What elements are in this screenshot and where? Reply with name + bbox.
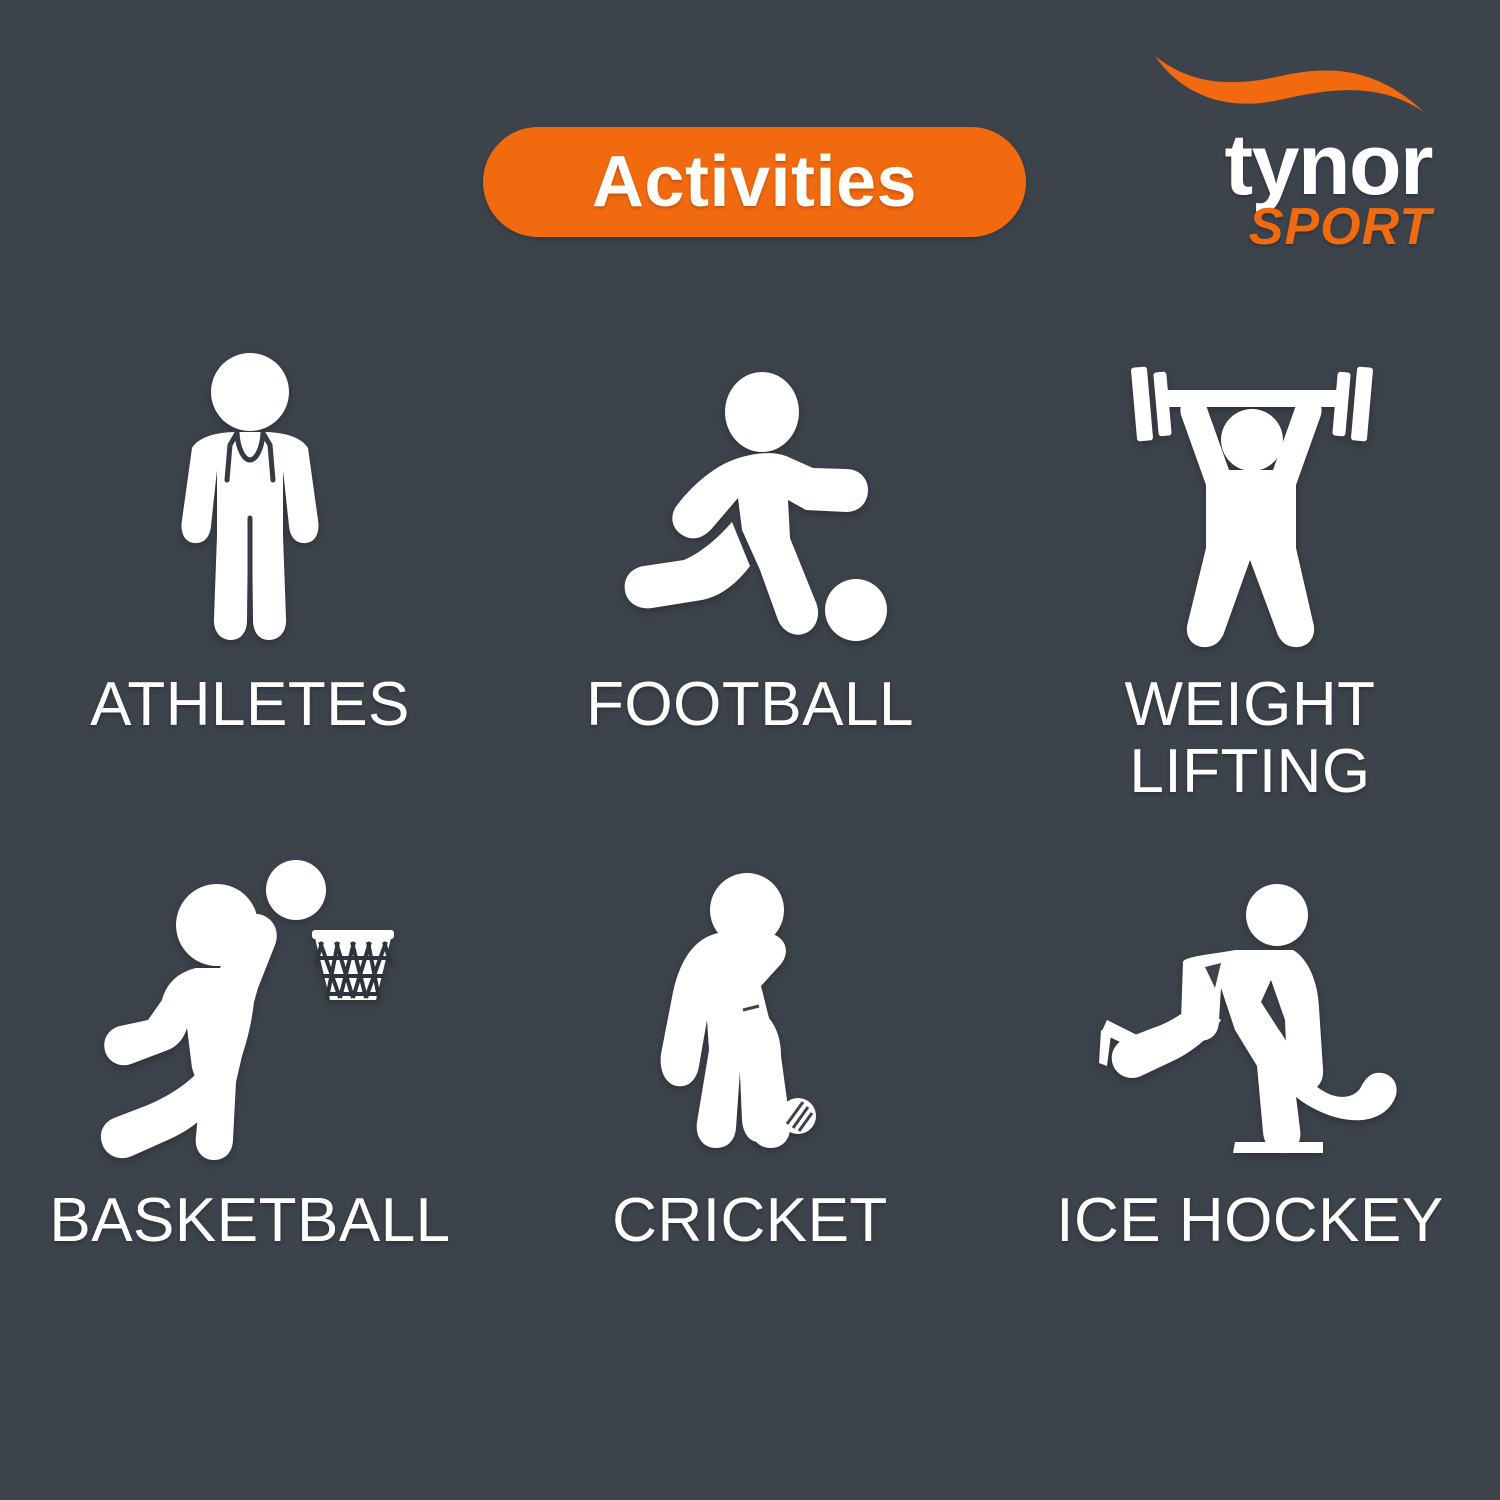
activity-item-basketball: BASKETBALL xyxy=(0,860,500,1390)
activity-item-athletes: ATHLETES xyxy=(0,330,500,860)
activities-badge: Activities xyxy=(483,127,1026,237)
activity-label-football: FOOTBALL xyxy=(586,672,914,739)
activity-item-cricket: CRICKET xyxy=(500,860,1000,1390)
poster-header: Activities tynor SPORT xyxy=(0,0,1500,300)
logo-wordmark: tynor xyxy=(1132,126,1432,205)
activity-item-icehockey: ICE HOCKEY xyxy=(1000,860,1500,1390)
icehockey-icon xyxy=(1085,860,1415,1160)
activity-label-athletes: ATHLETES xyxy=(90,672,410,739)
basketball-icon xyxy=(100,860,400,1160)
activity-item-football: FOOTBALL xyxy=(500,330,1000,860)
weightlifting-icon xyxy=(1110,330,1390,650)
football-icon xyxy=(610,330,890,650)
tynor-sport-logo: tynor SPORT xyxy=(1132,52,1432,252)
activity-label-basketball: BASKETBALL xyxy=(49,1188,450,1255)
activity-item-weightlifting: WEIGHT LIFTING xyxy=(1000,330,1500,860)
activity-label-cricket: CRICKET xyxy=(612,1188,888,1255)
activities-badge-label: Activities xyxy=(592,146,917,218)
logo-subword: SPORT xyxy=(1132,201,1432,253)
swoosh-icon xyxy=(1147,52,1432,122)
cricket-icon xyxy=(635,860,865,1160)
activities-grid: ATHLETES FOOTBALL xyxy=(0,330,1500,1390)
activity-label-icehockey: ICE HOCKEY xyxy=(1056,1188,1443,1255)
athlete-icon xyxy=(175,330,325,650)
activities-poster: Activities tynor SPORT xyxy=(0,0,1500,1500)
activity-label-weightlifting: WEIGHT LIFTING xyxy=(1125,672,1376,806)
